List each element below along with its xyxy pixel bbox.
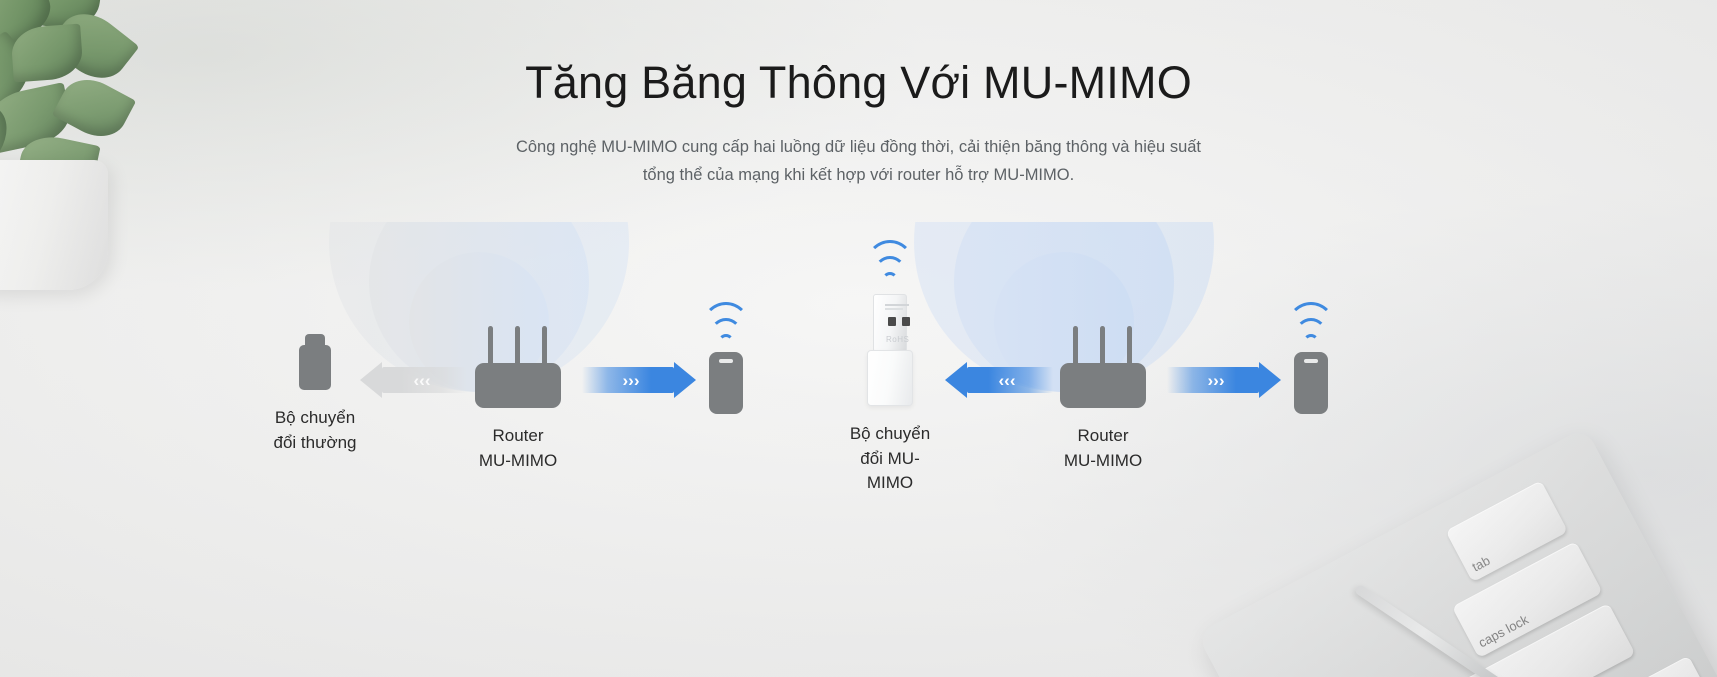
wifi-icon	[700, 302, 752, 338]
wifi-icon	[1285, 302, 1337, 338]
subtitle-line-1: Công nghệ MU-MIMO cung cấp hai luồng dữ …	[0, 134, 1717, 161]
subtitle-line-2: tổng thể của mạng khi kết hợp với router…	[0, 162, 1717, 189]
arrow-right-blue: ›››	[582, 362, 696, 398]
usb-adapter-mumimo-icon: RoHS	[867, 294, 913, 406]
usb-adapter-plain-icon	[299, 334, 331, 390]
wifi-icon	[864, 240, 916, 276]
router-node-left: Router MU-MIMO	[443, 324, 593, 473]
router-icon	[1060, 324, 1146, 408]
smartphone-icon	[709, 352, 743, 414]
page-subtitle: Công nghệ MU-MIMO cung cấp hai luồng dữ …	[0, 134, 1717, 188]
page-title: Tăng Băng Thông Với MU-MIMO	[0, 58, 1717, 108]
standard-adapter-label: Bộ chuyển đổi thường	[240, 406, 390, 455]
arrow-chevrons: ›››	[1208, 372, 1225, 389]
header: Tăng Băng Thông Với MU-MIMO Công nghệ MU…	[0, 58, 1717, 189]
mumimo-adapter-node: RoHS Bộ chuyển đổi MU- MIMO	[815, 240, 965, 496]
arrow-chevrons: ›››	[623, 372, 640, 389]
client-device-right	[1285, 302, 1337, 414]
arrow-right-blue: ›››	[1167, 362, 1281, 398]
client-device-left	[700, 302, 752, 414]
mumimo-adapter-group: RoHS Bộ chuyển đổi MU- MIMO ‹‹‹	[790, 218, 1430, 518]
page-root: tab caps lock shift fn control opt Tăng …	[0, 0, 1717, 677]
router-label-left: Router MU-MIMO	[443, 424, 593, 473]
rohs-marking: RoHS	[886, 335, 909, 344]
mumimo-adapter-label: Bộ chuyển đổi MU- MIMO	[815, 422, 965, 496]
arrow-chevrons: ‹‹‹	[999, 372, 1016, 389]
standard-adapter-group: Bộ chuyển đổi thường ‹‹‹ Router	[205, 218, 845, 518]
arrow-chevrons: ‹‹‹	[414, 372, 431, 389]
router-node-right: Router MU-MIMO	[1028, 324, 1178, 473]
router-icon	[475, 324, 561, 408]
smartphone-icon	[1294, 352, 1328, 414]
router-label-right: Router MU-MIMO	[1028, 424, 1178, 473]
mu-mimo-diagram: Bộ chuyển đổi thường ‹‹‹ Router	[0, 218, 1717, 518]
